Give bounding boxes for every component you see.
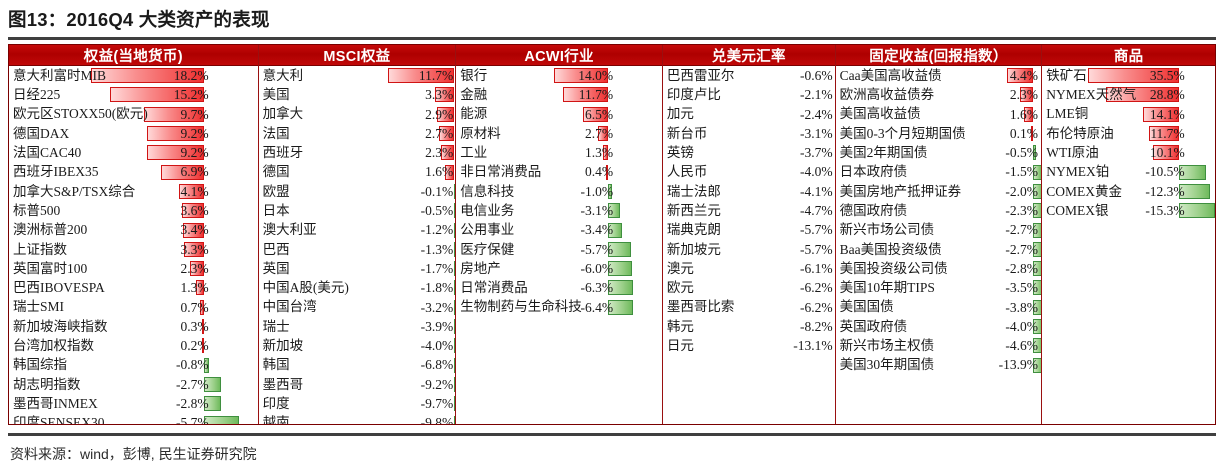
- table-row: 铁矿石35.5%: [1042, 66, 1215, 85]
- table-row: 日元-13.1%: [663, 336, 835, 355]
- asset-label: 新台币: [663, 127, 708, 141]
- asset-value: -3.9%: [407, 320, 453, 334]
- asset-label: 英国政府债: [836, 320, 908, 334]
- asset-label: 金融: [456, 88, 487, 102]
- asset-label: 原材料: [456, 127, 501, 141]
- table-row: 电信业务-3.1%: [456, 201, 662, 220]
- asset-value: -9.8%: [407, 416, 453, 424]
- asset-label: 美国0-3个月短期国债: [836, 127, 966, 141]
- table-row: 金融11.7%: [456, 85, 662, 104]
- asset-label: NYMEX天然气: [1042, 88, 1136, 102]
- asset-label: 法国: [259, 127, 290, 141]
- asset-value: 2.3%: [407, 146, 453, 160]
- table-row: 新兴市场主权债-4.6%: [836, 336, 1042, 355]
- asset-label: 上证指数: [9, 243, 67, 257]
- table-row: COMEX黄金-12.3%: [1042, 182, 1215, 201]
- asset-value: -3.7%: [787, 146, 833, 160]
- asset-label: 日经225: [9, 88, 60, 102]
- asset-value: 0.3%: [163, 320, 209, 334]
- asset-value: -1.2%: [407, 223, 453, 237]
- column-header: MSCI权益: [259, 45, 456, 66]
- table-row: 西班牙2.3%: [259, 143, 456, 162]
- table-row: Caa美国高收益债4.4%: [836, 66, 1042, 85]
- asset-column-3: ACWI行业银行14.0%金融11.7%能源6.5%原材料2.7%工业1.3%非…: [456, 45, 663, 424]
- asset-value: 1.3%: [163, 281, 209, 295]
- column-header: 权益(当地货币): [9, 45, 258, 66]
- asset-value: -2.8%: [163, 397, 209, 411]
- asset-performance-table: 权益(当地货币)意大利富时MIB18.2%日经22515.2%欧元区STOXX5…: [8, 44, 1216, 425]
- asset-label: 欧元区STOXX50(欧元): [9, 107, 148, 121]
- column-body: 银行14.0%金融11.7%能源6.5%原材料2.7%工业1.3%非日常消费品0…: [456, 66, 662, 424]
- asset-label: 美国10年期TIPS: [836, 281, 935, 295]
- table-row: 新加坡海峡指数0.3%: [9, 317, 258, 336]
- table-row: 标普5003.6%: [9, 201, 258, 220]
- asset-label: 加元: [663, 107, 694, 121]
- asset-label: 墨西哥比索: [663, 300, 735, 314]
- asset-column-6: 商品铁矿石35.5%NYMEX天然气28.8%LME铜14.1%布伦特原油11.…: [1042, 45, 1215, 424]
- asset-label: 新兴市场主权债: [836, 339, 935, 353]
- asset-value: -13.1%: [787, 339, 833, 353]
- asset-value: -6.0%: [567, 262, 613, 276]
- asset-label: 新兴市场公司债: [836, 223, 935, 237]
- table-row: 印度SENSEX30-5.7%: [9, 413, 258, 424]
- asset-label: 印度: [259, 397, 290, 411]
- asset-value: 18.2%: [163, 69, 209, 83]
- asset-label: 意大利富时MIB: [9, 69, 106, 83]
- column-body: 意大利11.7%美国3.3%加拿大2.9%法国2.7%西班牙2.3%德国1.6%…: [259, 66, 456, 424]
- table-row: 美国3.3%: [259, 85, 456, 104]
- table-row: 意大利富时MIB18.2%: [9, 66, 258, 85]
- table-row: 英国富时1002.3%: [9, 259, 258, 278]
- asset-label: 欧盟: [259, 185, 290, 199]
- table-row: WTI原油10.1%: [1042, 143, 1215, 162]
- asset-label: LME铜: [1042, 107, 1088, 121]
- asset-value: -5.7%: [787, 223, 833, 237]
- column-body: 巴西雷亚尔-0.6%印度卢比-2.1%加元-2.4%新台币-3.1%英镑-3.7…: [663, 66, 835, 424]
- asset-label: Caa美国高收益债: [836, 69, 942, 83]
- asset-value: -0.5%: [407, 204, 453, 218]
- asset-label: COMEX黄金: [1042, 185, 1122, 199]
- asset-value: -3.1%: [787, 127, 833, 141]
- asset-label: 德国政府债: [836, 204, 908, 218]
- asset-value: 2.3%: [992, 88, 1038, 102]
- column-header: 兑美元汇率: [663, 45, 835, 66]
- table-row: 美国2年期国债-0.5%: [836, 143, 1042, 162]
- asset-label: 西班牙: [259, 146, 304, 160]
- asset-value: 9.2%: [163, 127, 209, 141]
- asset-label: 美国2年期国债: [836, 146, 928, 160]
- asset-column-1: 权益(当地货币)意大利富时MIB18.2%日经22515.2%欧元区STOXX5…: [9, 45, 259, 424]
- asset-column-2: MSCI权益意大利11.7%美国3.3%加拿大2.9%法国2.7%西班牙2.3%…: [259, 45, 457, 424]
- table-row: 德国政府债-2.3%: [836, 201, 1042, 220]
- asset-label: 美国高收益债: [836, 107, 921, 121]
- asset-value: -12.3%: [1139, 185, 1185, 199]
- asset-label: 台湾加权指数: [9, 339, 94, 353]
- asset-label: 公用事业: [456, 223, 514, 237]
- asset-label: 新加坡元: [663, 243, 721, 257]
- asset-label: 新加坡海峡指数: [9, 320, 108, 334]
- asset-label: 标普500: [9, 204, 60, 218]
- table-row: 瑞士SMI0.7%: [9, 298, 258, 317]
- asset-value: -4.7%: [787, 204, 833, 218]
- table-row: 信息科技-1.0%: [456, 182, 662, 201]
- asset-value: -5.7%: [787, 243, 833, 257]
- asset-label: 非日常消费品: [456, 165, 541, 179]
- asset-label: 巴西: [259, 243, 290, 257]
- asset-value: -6.8%: [407, 358, 453, 372]
- column-body: 意大利富时MIB18.2%日经22515.2%欧元区STOXX50(欧元)9.7…: [9, 66, 258, 424]
- asset-value: 9.2%: [163, 146, 209, 160]
- asset-value: -0.8%: [163, 358, 209, 372]
- asset-label: 韩元: [663, 320, 694, 334]
- asset-value: -0.1%: [407, 185, 453, 199]
- asset-label: 美国30年期国债: [836, 358, 935, 372]
- asset-value: -6.1%: [787, 262, 833, 276]
- asset-label: 欧元: [663, 281, 694, 295]
- table-row: 墨西哥比索-6.2%: [663, 298, 835, 317]
- asset-label: 信息科技: [456, 185, 514, 199]
- asset-value: 3.4%: [163, 223, 209, 237]
- asset-label: 印度SENSEX30: [9, 416, 105, 424]
- asset-label: 印度卢比: [663, 88, 721, 102]
- asset-value: -13.9%: [992, 358, 1038, 372]
- table-row: 新西兰元-4.7%: [663, 201, 835, 220]
- asset-label: 能源: [456, 107, 487, 121]
- asset-value: -9.7%: [407, 397, 453, 411]
- asset-label: 韩国: [259, 358, 290, 372]
- asset-label: 美国投资级公司债: [836, 262, 948, 276]
- column-header: ACWI行业: [456, 45, 662, 66]
- table-row: 中国A股(美元)-1.8%: [259, 278, 456, 297]
- table-row: 人民币-4.0%: [663, 162, 835, 181]
- asset-label: 英镑: [663, 146, 694, 160]
- asset-value: -6.2%: [787, 281, 833, 295]
- asset-label: 巴西IBOVESPA: [9, 281, 105, 295]
- table-row: 欧洲高收益债券2.3%: [836, 85, 1042, 104]
- asset-value: -1.5%: [992, 165, 1038, 179]
- asset-value: -15.3%: [1139, 204, 1185, 218]
- asset-label: 美国国债: [836, 300, 894, 314]
- asset-value: -8.2%: [787, 320, 833, 334]
- table-row: 日本政府债-1.5%: [836, 162, 1042, 181]
- table-row: 新加坡-4.0%: [259, 336, 456, 355]
- asset-value: -5.7%: [163, 416, 209, 424]
- asset-value: 3.3%: [163, 243, 209, 257]
- asset-value: 14.0%: [567, 69, 613, 83]
- table-row: 胡志明指数-2.7%: [9, 375, 258, 394]
- asset-label: 澳洲标普200: [9, 223, 87, 237]
- asset-value: -4.0%: [992, 320, 1038, 334]
- asset-value: -2.3%: [992, 204, 1038, 218]
- asset-value: -4.6%: [992, 339, 1038, 353]
- figure-title-block: 图13：2016Q4 大类资产的表现: [8, 6, 1216, 32]
- table-row: 日常消费品-6.3%: [456, 278, 662, 297]
- asset-label: 欧洲高收益债券: [836, 88, 935, 102]
- table-row: 房地产-6.0%: [456, 259, 662, 278]
- asset-label: 瑞士: [259, 320, 290, 334]
- asset-label: 西班牙IBEX35: [9, 165, 99, 179]
- asset-value: -2.8%: [992, 262, 1038, 276]
- asset-value: -2.4%: [787, 108, 833, 122]
- asset-value: -0.6%: [787, 69, 833, 83]
- table-row: 欧盟-0.1%: [259, 182, 456, 201]
- table-row: 美国10年期TIPS-3.5%: [836, 278, 1042, 297]
- table-row: 新加坡元-5.7%: [663, 240, 835, 259]
- table-row: 巴西雷亚尔-0.6%: [663, 66, 835, 85]
- asset-value: 3.6%: [163, 204, 209, 218]
- asset-label: 新西兰元: [663, 204, 721, 218]
- asset-column-5: 固定收益(回报指数）Caa美国高收益债4.4%欧洲高收益债券2.3%美国高收益债…: [836, 45, 1043, 424]
- asset-label: 生物制药与生命科技: [456, 300, 582, 314]
- asset-value: -6.3%: [567, 281, 613, 295]
- asset-label: 胡志明指数: [9, 378, 81, 392]
- table-row: 韩国综指-0.8%: [9, 355, 258, 374]
- asset-label: NYMEX铂: [1042, 165, 1109, 179]
- asset-label: 人民币: [663, 165, 708, 179]
- asset-label: 日常消费品: [456, 281, 528, 295]
- table-row: 生物制药与生命科技-6.4%: [456, 298, 662, 317]
- asset-value: -6.4%: [567, 301, 613, 315]
- table-row: 美国0-3个月短期国债0.1%: [836, 124, 1042, 143]
- table-row: 韩元-8.2%: [663, 317, 835, 336]
- figure-container: 图13：2016Q4 大类资产的表现 权益(当地货币)意大利富时MIB18.2%…: [0, 0, 1224, 470]
- table-row: 日本-0.5%: [259, 201, 456, 220]
- table-row: 医疗保健-5.7%: [456, 240, 662, 259]
- asset-value: 6.5%: [567, 108, 613, 122]
- title-divider: [8, 37, 1216, 40]
- table-row: 原材料2.7%: [456, 124, 662, 143]
- source-note: 资料来源：wind，彭博, 民生证券研究院: [10, 444, 257, 464]
- asset-label: 医疗保健: [456, 243, 514, 257]
- asset-value: -3.4%: [567, 223, 613, 237]
- table-row: 日经22515.2%: [9, 85, 258, 104]
- asset-value: -1.8%: [407, 281, 453, 295]
- asset-label: 法国CAC40: [9, 146, 81, 160]
- table-row: 能源6.5%: [456, 105, 662, 124]
- asset-label: 瑞士SMI: [9, 300, 64, 314]
- asset-value: -1.3%: [407, 243, 453, 257]
- asset-value: 14.1%: [1139, 108, 1185, 122]
- table-row: 法国2.7%: [259, 124, 456, 143]
- asset-value: 2.7%: [567, 127, 613, 141]
- asset-label: 银行: [456, 69, 487, 83]
- asset-value: 0.4%: [567, 165, 613, 179]
- asset-value: -4.0%: [787, 165, 833, 179]
- asset-value: 2.3%: [163, 262, 209, 276]
- asset-label: Baa美国投资级债: [836, 243, 942, 257]
- asset-value: -2.0%: [992, 185, 1038, 199]
- asset-value: -0.5%: [992, 146, 1038, 160]
- table-row: 加拿大S&P/TSX综合4.1%: [9, 182, 258, 201]
- table-row: 公用事业-3.4%: [456, 220, 662, 239]
- asset-label: 日本政府债: [836, 165, 908, 179]
- asset-value: 11.7%: [407, 69, 453, 83]
- table-row: 加拿大2.9%: [259, 105, 456, 124]
- table-row: NYMEX铂-10.5%: [1042, 162, 1215, 181]
- asset-label: 瑞士法郎: [663, 185, 721, 199]
- table-row: 韩国-6.8%: [259, 355, 456, 374]
- table-row: 美国国债-3.8%: [836, 298, 1042, 317]
- asset-label: WTI原油: [1042, 146, 1098, 160]
- asset-value: 2.9%: [407, 108, 453, 122]
- table-row: 美国投资级公司债-2.8%: [836, 259, 1042, 278]
- asset-label: 日本: [259, 204, 290, 218]
- asset-value: 10.1%: [1139, 146, 1185, 160]
- asset-value: 0.7%: [163, 301, 209, 315]
- asset-value: 6.9%: [163, 165, 209, 179]
- asset-value: 4.1%: [163, 185, 209, 199]
- asset-value: 1.6%: [407, 165, 453, 179]
- asset-value: -3.8%: [992, 301, 1038, 315]
- asset-value: -2.7%: [992, 243, 1038, 257]
- asset-label: 美国: [259, 88, 290, 102]
- asset-label: 布伦特原油: [1042, 127, 1114, 141]
- table-row: 布伦特原油11.7%: [1042, 124, 1215, 143]
- table-row: 银行14.0%: [456, 66, 662, 85]
- asset-label: 房地产: [456, 262, 501, 276]
- asset-label: 瑞典克朗: [663, 223, 721, 237]
- asset-label: 德国DAX: [9, 127, 69, 141]
- asset-label: 澳元: [663, 262, 694, 276]
- table-row: 西班牙IBEX356.9%: [9, 162, 258, 181]
- table-row: 非日常消费品0.4%: [456, 162, 662, 181]
- asset-value: -6.2%: [787, 301, 833, 315]
- table-row: 加元-2.4%: [663, 105, 835, 124]
- table-row: 澳大利亚-1.2%: [259, 220, 456, 239]
- table-row: 上证指数3.3%: [9, 240, 258, 259]
- asset-value: 2.7%: [407, 127, 453, 141]
- asset-label: 电信业务: [456, 204, 514, 218]
- asset-label: 英国富时100: [9, 262, 87, 276]
- asset-label: 墨西哥: [259, 378, 304, 392]
- asset-value: 0.1%: [992, 127, 1038, 141]
- column-header: 固定收益(回报指数）: [836, 45, 1042, 66]
- asset-value: -3.2%: [407, 301, 453, 315]
- asset-value: -9.2%: [407, 378, 453, 392]
- bar-negative: [204, 416, 239, 424]
- table-row: 中国台湾-3.2%: [259, 298, 456, 317]
- table-row: NYMEX天然气28.8%: [1042, 85, 1215, 104]
- column-header: 商品: [1042, 45, 1215, 66]
- asset-value: 4.4%: [992, 69, 1038, 83]
- asset-label: 工业: [456, 146, 487, 160]
- table-row: 美国30年期国债-13.9%: [836, 355, 1042, 374]
- table-row: 德国1.6%: [259, 162, 456, 181]
- asset-value: -2.7%: [992, 223, 1038, 237]
- table-row: 越南-9.8%: [259, 413, 456, 424]
- asset-label: 韩国综指: [9, 358, 67, 372]
- table-row: 英国-1.7%: [259, 259, 456, 278]
- table-row: 英镑-3.7%: [663, 143, 835, 162]
- asset-label: 越南: [259, 416, 290, 424]
- asset-label: 中国A股(美元): [259, 281, 349, 295]
- asset-label: 德国: [259, 165, 290, 179]
- asset-value: -10.5%: [1139, 165, 1185, 179]
- table-row: 瑞士-3.9%: [259, 317, 456, 336]
- asset-value: -2.7%: [163, 378, 209, 392]
- asset-label: 英国: [259, 262, 290, 276]
- asset-value: 9.7%: [163, 108, 209, 122]
- table-row: 法国CAC409.2%: [9, 143, 258, 162]
- asset-value: 28.8%: [1139, 88, 1185, 102]
- asset-value: -4.0%: [407, 339, 453, 353]
- asset-value: 35.5%: [1139, 69, 1185, 83]
- asset-label: 澳大利亚: [259, 223, 317, 237]
- asset-value: -4.1%: [787, 185, 833, 199]
- asset-label: 巴西雷亚尔: [663, 69, 735, 83]
- table-row: 澳洲标普2003.4%: [9, 220, 258, 239]
- asset-label: 中国台湾: [259, 300, 317, 314]
- column-body: 铁矿石35.5%NYMEX天然气28.8%LME铜14.1%布伦特原油11.7%…: [1042, 66, 1215, 424]
- asset-label: 美国房地产抵押证券: [836, 185, 962, 199]
- table-row: 工业1.3%: [456, 143, 662, 162]
- asset-value: 1.6%: [992, 108, 1038, 122]
- asset-label: 墨西哥INMEX: [9, 397, 98, 411]
- table-row: 墨西哥INMEX-2.8%: [9, 394, 258, 413]
- table-row: LME铜14.1%: [1042, 105, 1215, 124]
- asset-label: 意大利: [259, 69, 304, 83]
- table-row: 新台币-3.1%: [663, 124, 835, 143]
- asset-value: -1.0%: [567, 185, 613, 199]
- table-row: 巴西-1.3%: [259, 240, 456, 259]
- asset-value: 1.3%: [567, 146, 613, 160]
- table-row: COMEX银-15.3%: [1042, 201, 1215, 220]
- table-row: 英国政府债-4.0%: [836, 317, 1042, 336]
- footer-divider: [8, 433, 1216, 436]
- table-row: 印度卢比-2.1%: [663, 85, 835, 104]
- table-row: 美国高收益债1.6%: [836, 105, 1042, 124]
- table-row: 巴西IBOVESPA1.3%: [9, 278, 258, 297]
- asset-column-4: 兑美元汇率巴西雷亚尔-0.6%印度卢比-2.1%加元-2.4%新台币-3.1%英…: [663, 45, 836, 424]
- asset-label: 铁矿石: [1042, 69, 1087, 83]
- asset-label: 加拿大S&P/TSX综合: [9, 185, 135, 199]
- asset-value: -3.1%: [567, 204, 613, 218]
- asset-label: 日元: [663, 339, 694, 353]
- table-row: Baa美国投资级债-2.7%: [836, 240, 1042, 259]
- table-row: 德国DAX9.2%: [9, 124, 258, 143]
- page-title: 图13：2016Q4 大类资产的表现: [8, 6, 1216, 32]
- table-row: 欧元区STOXX50(欧元)9.7%: [9, 105, 258, 124]
- table-row: 美国房地产抵押证券-2.0%: [836, 182, 1042, 201]
- table-row: 墨西哥-9.2%: [259, 375, 456, 394]
- asset-label: 加拿大: [259, 107, 304, 121]
- asset-label: 新加坡: [259, 339, 304, 353]
- table-row: 意大利11.7%: [259, 66, 456, 85]
- asset-value: 3.3%: [407, 88, 453, 102]
- table-row: 瑞士法郎-4.1%: [663, 182, 835, 201]
- column-body: Caa美国高收益债4.4%欧洲高收益债券2.3%美国高收益债1.6%美国0-3个…: [836, 66, 1042, 424]
- table-row: 欧元-6.2%: [663, 278, 835, 297]
- asset-value: -5.7%: [567, 243, 613, 257]
- asset-value: 11.7%: [1139, 127, 1185, 141]
- asset-value: -1.7%: [407, 262, 453, 276]
- table-row: 印度-9.7%: [259, 394, 456, 413]
- asset-value: -2.1%: [787, 88, 833, 102]
- asset-value: 0.2%: [163, 339, 209, 353]
- table-row: 台湾加权指数0.2%: [9, 336, 258, 355]
- asset-value: -3.5%: [992, 281, 1038, 295]
- table-row: 澳元-6.1%: [663, 259, 835, 278]
- table-row: 新兴市场公司债-2.7%: [836, 220, 1042, 239]
- asset-value: 15.2%: [163, 88, 209, 102]
- asset-value: 11.7%: [567, 88, 613, 102]
- asset-label: COMEX银: [1042, 204, 1108, 218]
- table-row: 瑞典克朗-5.7%: [663, 220, 835, 239]
